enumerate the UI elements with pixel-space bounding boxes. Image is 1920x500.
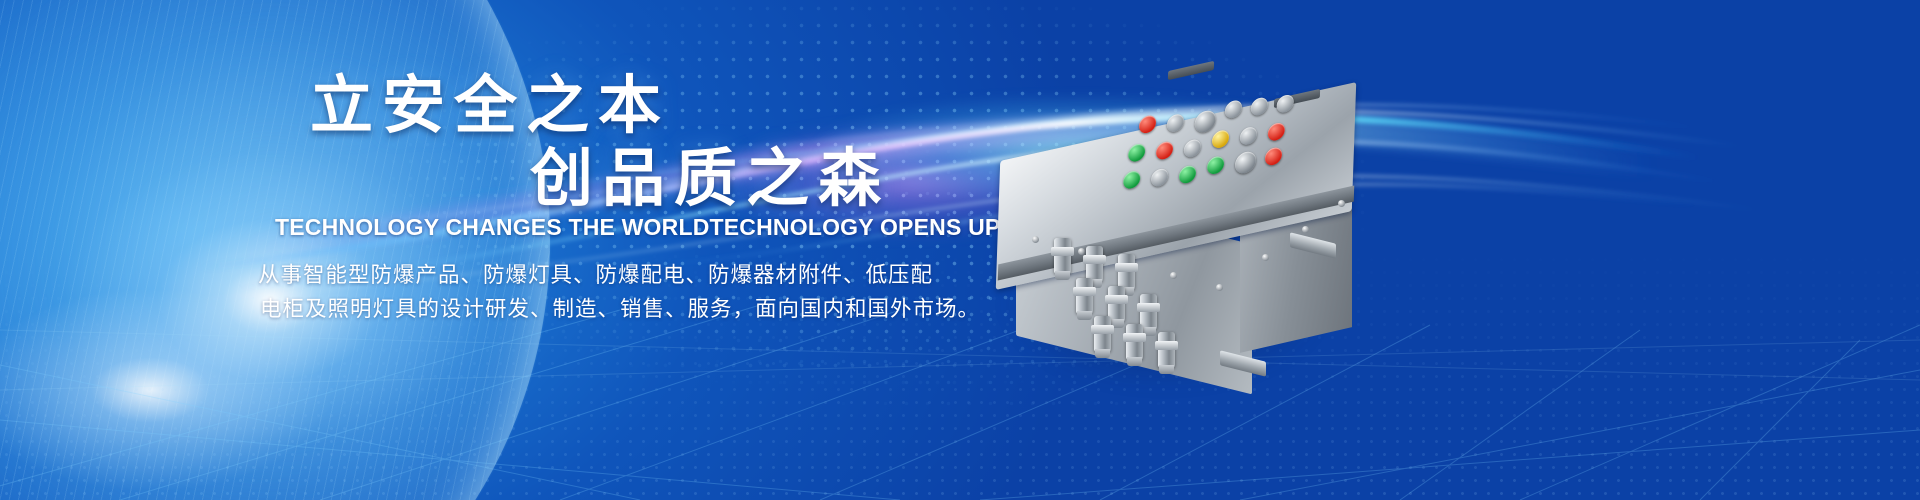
push-button-gray-7[interactable] [1151, 167, 1169, 188]
push-button-gray-3[interactable] [1251, 96, 1269, 117]
push-button-red-2[interactable] [1156, 140, 1174, 161]
cable-gland [1086, 246, 1103, 282]
push-button-red-4[interactable] [1265, 146, 1283, 167]
cable-gland [1158, 332, 1175, 368]
flange-bolt [1032, 236, 1039, 243]
push-button-green-1[interactable] [1128, 142, 1146, 163]
cable-gland [1126, 324, 1143, 360]
flange-bolt [1170, 272, 1177, 279]
push-button-gray-4[interactable] [1276, 93, 1294, 114]
flange-bolt [1302, 226, 1309, 233]
push-button-gray-1[interactable] [1167, 113, 1185, 134]
flange-bolt [1262, 254, 1269, 261]
description-line-1: 从事智能型防爆产品、防爆灯具、防爆配电、防爆器材附件、低压配 [258, 258, 918, 292]
description-paragraph: 从事智能型防爆产品、防爆灯具、防爆配电、防爆器材附件、低压配 电柜及照明灯具的设… [258, 258, 918, 326]
push-button-green-4[interactable] [1207, 155, 1225, 176]
flange-bolt [1338, 200, 1345, 207]
push-button-gray-2[interactable] [1225, 99, 1243, 120]
selector-switch-2[interactable] [1235, 150, 1257, 176]
push-button-red-1[interactable] [1139, 114, 1157, 135]
selector-switch-1[interactable] [1194, 109, 1216, 135]
flange-bolt [1216, 284, 1223, 291]
product-image [990, 40, 1410, 400]
push-button-green-2[interactable] [1123, 169, 1141, 190]
copy-block: 立安全之本 创品质之森 TECHNOLOGY CHANGES THE WORLD… [0, 0, 1000, 500]
cable-gland [1118, 254, 1135, 290]
cable-gland [1076, 278, 1093, 314]
push-button-red-3[interactable] [1268, 121, 1286, 142]
push-button-green-3[interactable] [1179, 164, 1197, 185]
cable-gland [1054, 238, 1071, 274]
promo-banner: 立安全之本 创品质之森 TECHNOLOGY CHANGES THE WORLD… [0, 0, 1920, 500]
push-button-gray-5[interactable] [1184, 138, 1202, 159]
vent-slot-left [1168, 61, 1214, 80]
push-button-yellow-1[interactable] [1212, 129, 1230, 150]
flange-bolt [1078, 248, 1085, 255]
headline-line-1: 立安全之本 [310, 75, 670, 138]
description-line-2: 电柜及照明灯具的设计研发、制造、销售、服务，面向国内和国外市场。 [258, 292, 918, 326]
cable-gland [1094, 316, 1111, 352]
push-button-gray-6[interactable] [1240, 126, 1258, 147]
headline-line-2: 创品质之森 [530, 148, 890, 211]
